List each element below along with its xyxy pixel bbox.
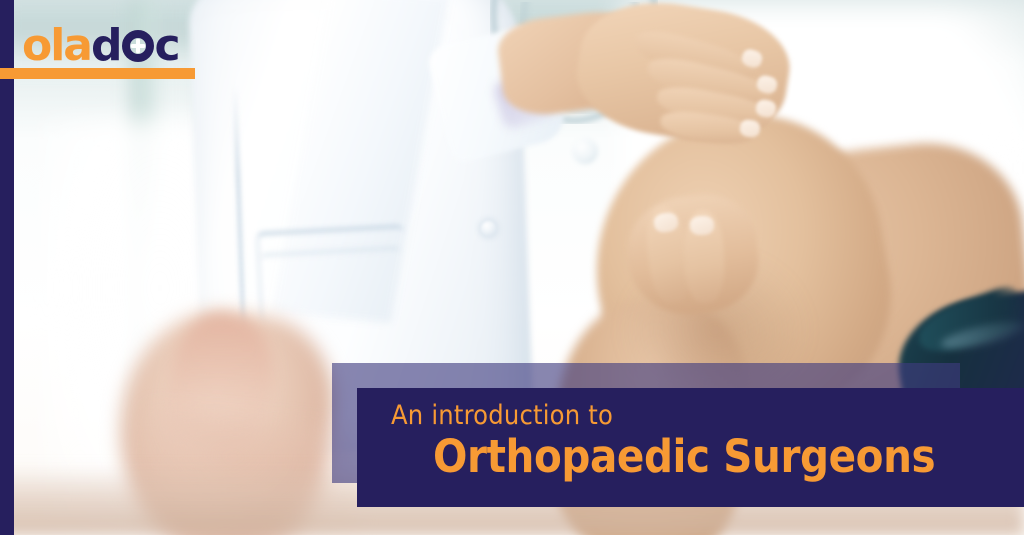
medical-plus-icon bbox=[122, 30, 154, 62]
oladoc-orthopaedic-surgeons-banner: ola d c An introduction to Orthopaedic S… bbox=[0, 0, 1024, 535]
logo-text-ola: ola bbox=[22, 24, 91, 68]
lab-coat-pocket-inner bbox=[260, 246, 404, 325]
title-kicker: An introduction to bbox=[391, 402, 1024, 430]
page-title: Orthopaedic Surgeons bbox=[433, 432, 1024, 482]
logo-text-d: d bbox=[91, 24, 121, 68]
plus-vertical-bar bbox=[136, 39, 140, 53]
title-panel: An introduction to Orthopaedic Surgeons bbox=[357, 388, 1024, 507]
oladoc-logo[interactable]: ola d c bbox=[22, 24, 179, 68]
fingernail bbox=[690, 216, 715, 236]
logo-text-c: c bbox=[155, 24, 179, 68]
left-accent-strip bbox=[0, 0, 14, 535]
stethoscope-bell bbox=[572, 138, 598, 164]
lab-coat-button bbox=[481, 221, 496, 236]
